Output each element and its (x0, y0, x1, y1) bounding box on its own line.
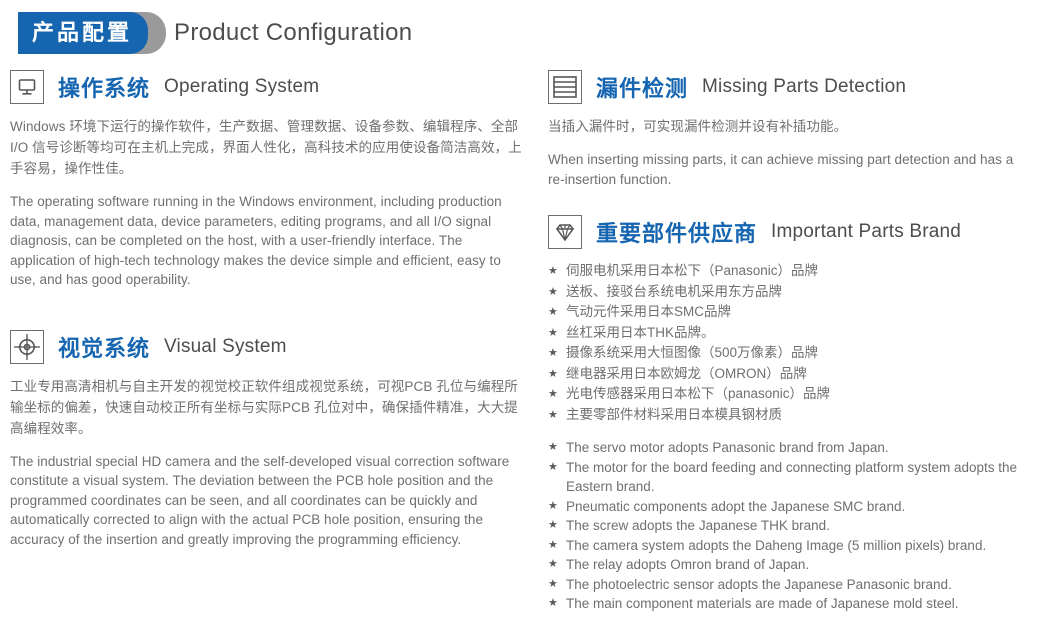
spacer (10, 439, 522, 452)
star-bullet-icon: ★ (548, 594, 558, 614)
section-heading-missing-parts-detection: 漏件检测 Missing Parts Detection (548, 70, 1030, 104)
list-item: ★Pneumatic components adopt the Japanese… (548, 497, 1030, 517)
list-item-label: The motor for the board feeding and conn… (566, 460, 1017, 495)
section-title-cn: 漏件检测 (596, 71, 688, 103)
important-parts-bullets-cn: ★伺服电机采用日本松下（Panasonic）品牌 ★送板、接驳台系统电机采用东方… (548, 261, 1030, 425)
section-title-cn: 重要部件供应商 (596, 216, 757, 248)
star-bullet-icon: ★ (548, 261, 558, 282)
list-item: ★气动元件采用日本SMC品牌 (548, 302, 1030, 323)
left-column: 操作系统 Operating System Windows 环境下运行的操作软件… (10, 70, 522, 549)
section-title-cn: 视觉系统 (58, 331, 150, 363)
list-item-label: 送板、接驳台系统电机采用东方品牌 (566, 284, 782, 299)
list-item-label: Pneumatic components adopt the Japanese … (566, 499, 905, 514)
star-bullet-icon: ★ (548, 536, 558, 556)
section-heading-important-parts-brand: 重要部件供应商 Important Parts Brand (548, 215, 1030, 249)
product-configuration-page: 产品配置 Product Configuration 操作系统 Operatin… (0, 0, 1038, 619)
header-tag-wrapper: 产品配置 (18, 12, 148, 54)
section-heading-visual-system: 视觉系统 Visual System (10, 330, 522, 364)
list-item-label: The camera system adopts the Daheng Imag… (566, 538, 986, 553)
header-tag-label: 产品配置 (32, 22, 132, 44)
monitor-icon (10, 70, 44, 104)
star-bullet-icon: ★ (548, 384, 558, 405)
list-item: ★The photoelectric sensor adopts the Jap… (548, 575, 1030, 595)
spacer (548, 189, 1030, 215)
star-bullet-icon: ★ (548, 364, 558, 385)
list-item-label: 继电器采用日本欧姆龙（OMRON）品牌 (566, 366, 807, 381)
visual-system-body-cn: 工业专用高清相机与自主开发的视觉校正软件组成视觉系统，可视PCB 孔位与编程所输… (10, 376, 522, 439)
star-bullet-icon: ★ (548, 458, 558, 478)
star-bullet-icon: ★ (548, 438, 558, 458)
page-title: Product Configuration (174, 19, 412, 47)
star-bullet-icon: ★ (548, 405, 558, 426)
list-item: ★The main component materials are made o… (548, 594, 1030, 614)
list-item-label: 伺服电机采用日本松下（Panasonic）品牌 (566, 263, 818, 278)
list-item-label: 丝杠采用日本THK品牌。 (566, 325, 715, 340)
section-title-en: Operating System (164, 76, 319, 98)
spacer (548, 137, 1030, 150)
section-title-cn: 操作系统 (58, 71, 150, 103)
list-item: ★The screw adopts the Japanese THK brand… (548, 516, 1030, 536)
section-title-en: Important Parts Brand (771, 221, 961, 243)
diamond-icon (548, 215, 582, 249)
list-item: ★光电传感器采用日本松下（panasonic）品牌 (548, 384, 1030, 405)
stacked-lines-icon (548, 70, 582, 104)
section-heading-operating-system: 操作系统 Operating System (10, 70, 522, 104)
page-header-banner: 产品配置 Product Configuration (18, 12, 412, 54)
list-item: ★伺服电机采用日本松下（Panasonic）品牌 (548, 261, 1030, 282)
star-bullet-icon: ★ (548, 302, 558, 323)
right-column: 漏件检测 Missing Parts Detection 当插入漏件时，可实现漏… (548, 70, 1030, 614)
list-item: ★主要零部件材料采用日本模具钢材质 (548, 405, 1030, 426)
section-title-en: Missing Parts Detection (702, 76, 906, 98)
star-bullet-icon: ★ (548, 516, 558, 536)
list-item-label: The screw adopts the Japanese THK brand. (566, 518, 830, 533)
list-item: ★The servo motor adopts Panasonic brand … (548, 438, 1030, 458)
star-bullet-icon: ★ (548, 323, 558, 344)
list-item: ★摄像系统采用大恒图像（500万像素）品牌 (548, 343, 1030, 364)
list-item-label: 光电传感器采用日本松下（panasonic）品牌 (566, 386, 830, 401)
spacer (10, 179, 522, 192)
list-item-label: 气动元件采用日本SMC品牌 (566, 304, 731, 319)
star-bullet-icon: ★ (548, 282, 558, 303)
list-item-label: 摄像系统采用大恒图像（500万像素）品牌 (566, 345, 818, 360)
header-tag: 产品配置 (18, 12, 148, 54)
operating-system-body-cn: Windows 环境下运行的操作软件，生产数据、管理数据、设备参数、编辑程序、全… (10, 116, 522, 179)
list-item-label: The servo motor adopts Panasonic brand f… (566, 440, 889, 455)
star-bullet-icon: ★ (548, 555, 558, 575)
spacer (548, 425, 1030, 438)
spacer (10, 290, 522, 330)
list-item-label: 主要零部件材料采用日本模具钢材质 (566, 407, 782, 422)
star-bullet-icon: ★ (548, 575, 558, 595)
list-item-label: The relay adopts Omron brand of Japan. (566, 557, 809, 572)
list-item: ★The motor for the board feeding and con… (548, 458, 1030, 497)
missing-parts-body-en: When inserting missing parts, it can ach… (548, 150, 1030, 189)
list-item: ★送板、接驳台系统电机采用东方品牌 (548, 282, 1030, 303)
list-item: ★The relay adopts Omron brand of Japan. (548, 555, 1030, 575)
list-item: ★继电器采用日本欧姆龙（OMRON）品牌 (548, 364, 1030, 385)
operating-system-body-en: The operating software running in the Wi… (10, 192, 522, 290)
crosshair-icon (10, 330, 44, 364)
visual-system-body-en: The industrial special HD camera and the… (10, 452, 522, 550)
list-item: ★丝杠采用日本THK品牌。 (548, 323, 1030, 344)
section-title-en: Visual System (164, 336, 287, 358)
list-item-label: The main component materials are made of… (566, 596, 958, 611)
important-parts-bullets-en: ★The servo motor adopts Panasonic brand … (548, 438, 1030, 614)
list-item: ★The camera system adopts the Daheng Ima… (548, 536, 1030, 556)
list-item-label: The photoelectric sensor adopts the Japa… (566, 577, 952, 592)
missing-parts-body-cn: 当插入漏件时，可实现漏件检测并设有补插功能。 (548, 116, 1030, 137)
star-bullet-icon: ★ (548, 343, 558, 364)
star-bullet-icon: ★ (548, 497, 558, 517)
